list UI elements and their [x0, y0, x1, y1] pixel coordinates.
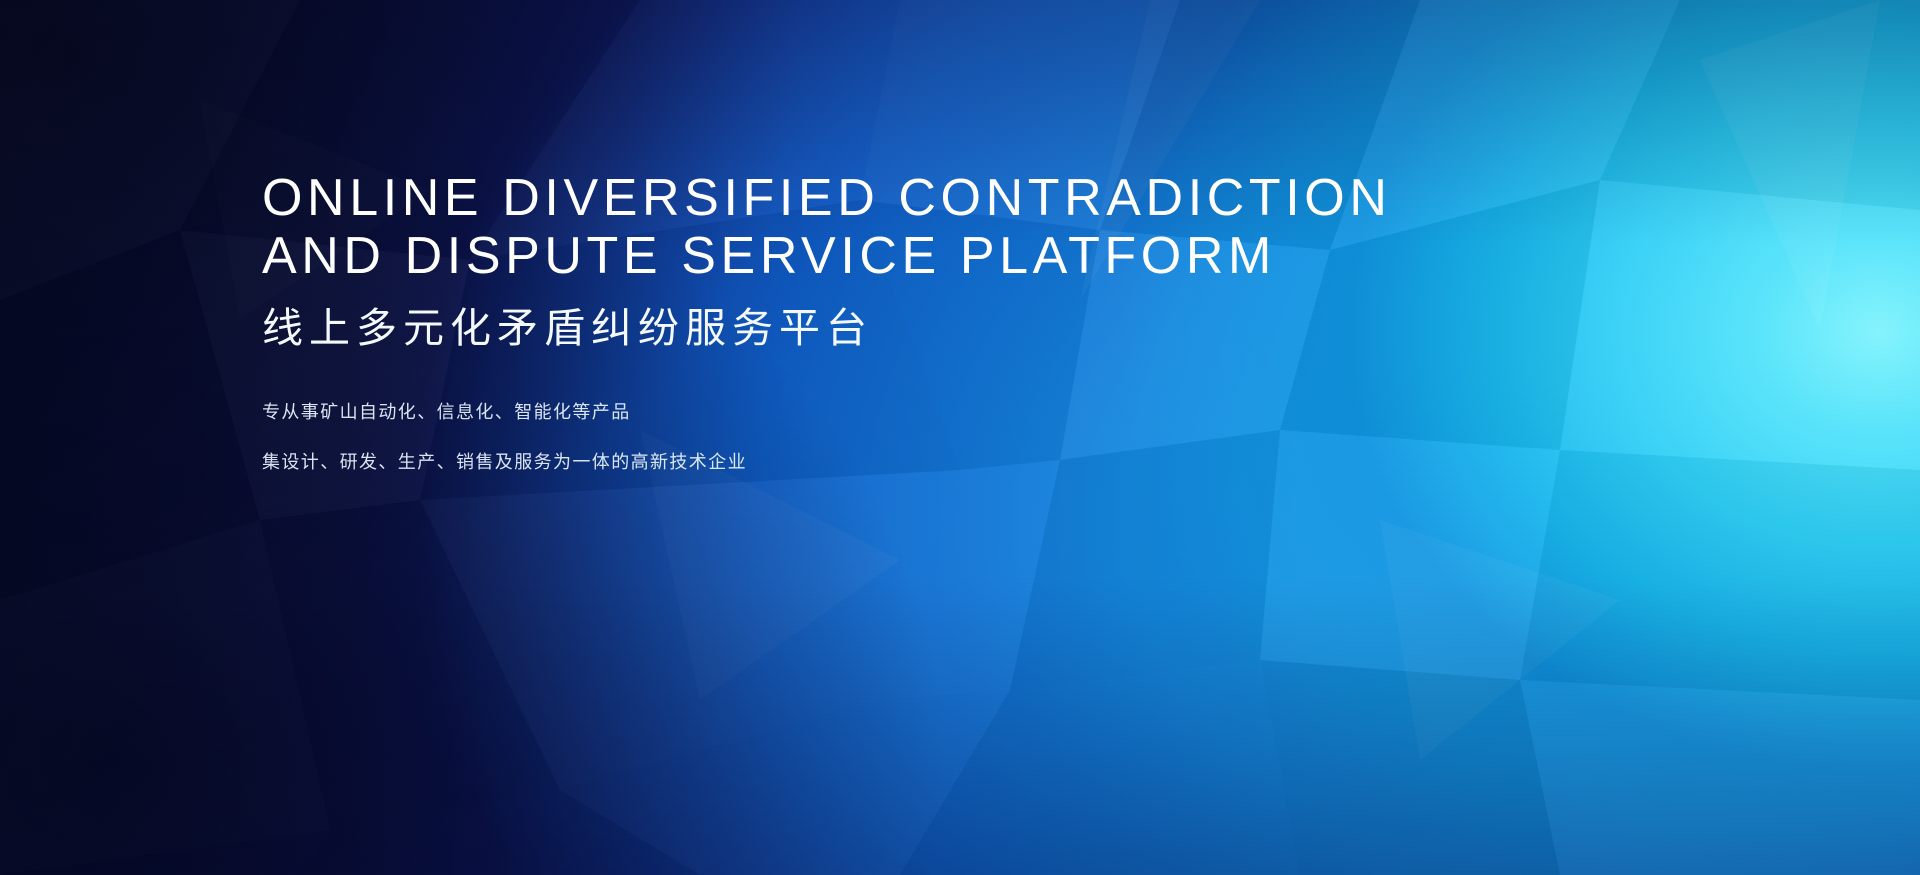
description-line-1: 专从事矿山自动化、信息化、智能化等产品: [262, 396, 1562, 428]
hero-content: ONLINE DIVERSIFIED CONTRADICTION AND DIS…: [262, 168, 1562, 496]
headline-line-1: ONLINE DIVERSIFIED CONTRADICTION: [262, 168, 1562, 228]
description-line-2: 集设计、研发、生产、销售及服务为一体的高新技术企业: [262, 446, 1562, 478]
description-block: 专从事矿山自动化、信息化、智能化等产品 集设计、研发、生产、销售及服务为一体的高…: [262, 396, 1562, 478]
hero-banner: ONLINE DIVERSIFIED CONTRADICTION AND DIS…: [0, 0, 1920, 875]
headline-line-2: AND DISPUTE SERVICE PLATFORM: [262, 226, 1562, 286]
subtitle-chinese: 线上多元化矛盾纠纷服务平台: [262, 302, 1562, 354]
